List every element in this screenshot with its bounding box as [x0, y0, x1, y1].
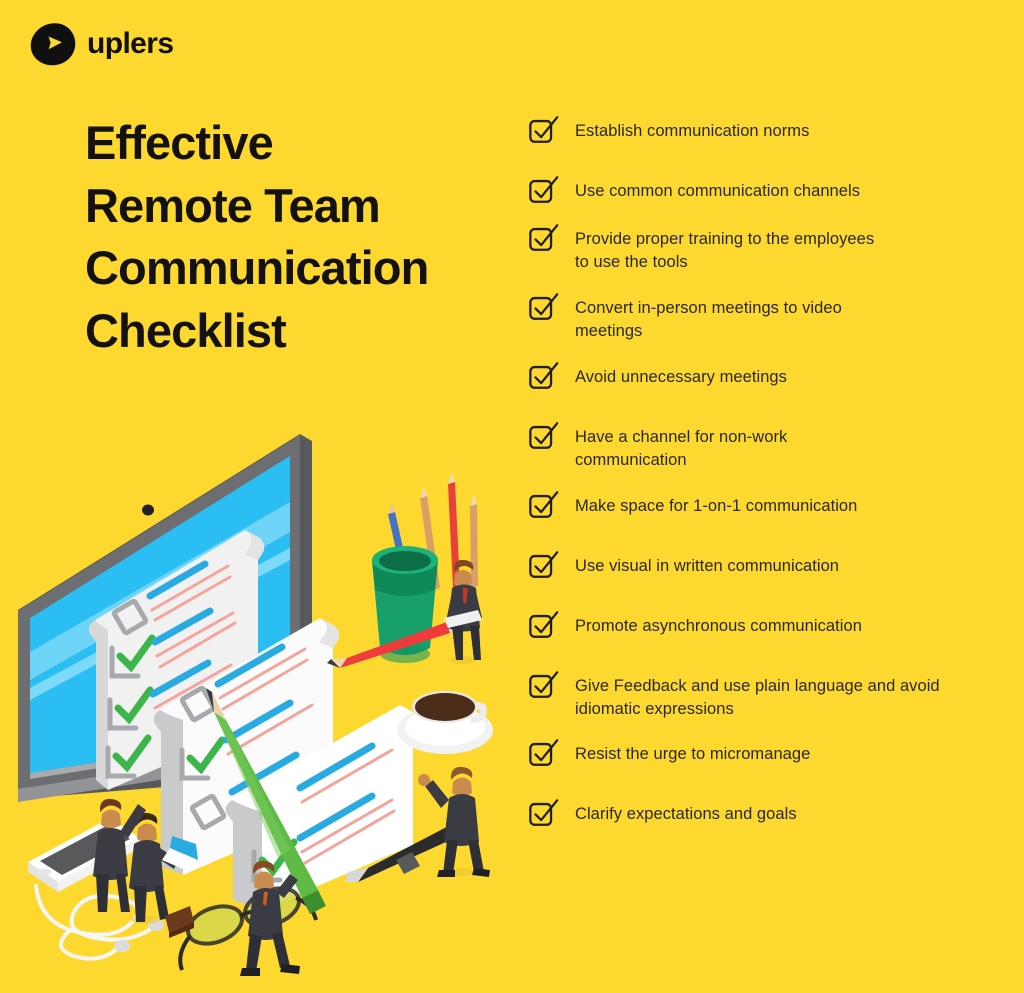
checkbox-checked-icon[interactable]: [528, 737, 560, 769]
checklist-item-label: Have a channel for non-work communicatio…: [575, 424, 875, 473]
earbud-icon: [114, 940, 130, 952]
checklist-item[interactable]: Promote asynchronous communication: [528, 613, 998, 641]
checkbox-checked-icon[interactable]: [528, 489, 560, 521]
checklist: Establish communication norms Use common…: [528, 118, 998, 861]
title-line-2: Remote Team: [85, 179, 380, 232]
checklist-item[interactable]: Give Feedback and use plain language and…: [528, 673, 998, 722]
checklist-item[interactable]: Make space for 1-on-1 communication: [528, 493, 998, 521]
checklist-item[interactable]: Establish communication norms: [528, 118, 998, 146]
checklist-item-label: Clarify expectations and goals: [575, 801, 797, 826]
checkbox-checked-icon[interactable]: [528, 669, 560, 701]
pencil-tan2-icon: [470, 494, 478, 588]
checklist-item[interactable]: Use visual in written communication: [528, 553, 998, 581]
checklist-item-label: Use visual in written communication: [575, 553, 839, 578]
title-line-4: Checklist: [85, 304, 286, 357]
isometric-remote-work-illustration: [0, 420, 520, 980]
checkbox-checked-icon[interactable]: [528, 549, 560, 581]
checklist-item[interactable]: Clarify expectations and goals: [528, 801, 998, 829]
checklist-item-label: Establish communication norms: [575, 118, 809, 143]
checkbox-checked-icon[interactable]: [528, 222, 560, 254]
uplers-play-blob-icon: [30, 22, 76, 66]
checklist-item-label: Convert in-person meetings to video meet…: [575, 295, 885, 344]
checklist-item-label: Use common communication channels: [575, 178, 860, 203]
checkbox-checked-icon[interactable]: [528, 360, 560, 392]
checklist-item-label: Avoid unnecessary meetings: [575, 364, 787, 389]
checklist-item-label: Provide proper training to the employees…: [575, 226, 875, 275]
checklist-item-label: Promote asynchronous communication: [575, 613, 862, 638]
page-title: Effective Remote Team Communication Chec…: [85, 112, 515, 362]
illustration-canvas: [0, 420, 520, 980]
checklist-item-label: Resist the urge to micromanage: [575, 741, 810, 766]
coffee-cup-icon: [397, 691, 493, 754]
checkbox-checked-icon[interactable]: [528, 114, 560, 146]
infographic-page: uplers Effective Remote Team Communicati…: [0, 0, 1024, 993]
checkbox-checked-icon[interactable]: [528, 174, 560, 206]
title-line-1: Effective: [85, 116, 273, 169]
title-line-3: Communication: [85, 241, 428, 294]
businessman-figure-icon: [418, 767, 490, 877]
checklist-item[interactable]: Have a channel for non-work communicatio…: [528, 424, 998, 473]
checklist-item[interactable]: Avoid unnecessary meetings: [528, 364, 998, 392]
checkbox-checked-icon[interactable]: [528, 609, 560, 641]
brand-name: uplers: [87, 29, 173, 59]
checklist-item[interactable]: Resist the urge to micromanage: [528, 741, 998, 769]
checklist-item-label: Give Feedback and use plain language and…: [575, 673, 955, 722]
checklist-item[interactable]: Convert in-person meetings to video meet…: [528, 295, 998, 344]
checklist-item-label: Make space for 1-on-1 communication: [575, 493, 857, 518]
checkbox-checked-icon[interactable]: [528, 291, 560, 323]
checklist-item[interactable]: Provide proper training to the employees…: [528, 226, 998, 275]
checkbox-checked-icon[interactable]: [528, 797, 560, 829]
brand-logo[interactable]: uplers: [30, 22, 173, 66]
checkbox-checked-icon[interactable]: [528, 420, 560, 452]
checklist-item[interactable]: Use common communication channels: [528, 178, 998, 206]
